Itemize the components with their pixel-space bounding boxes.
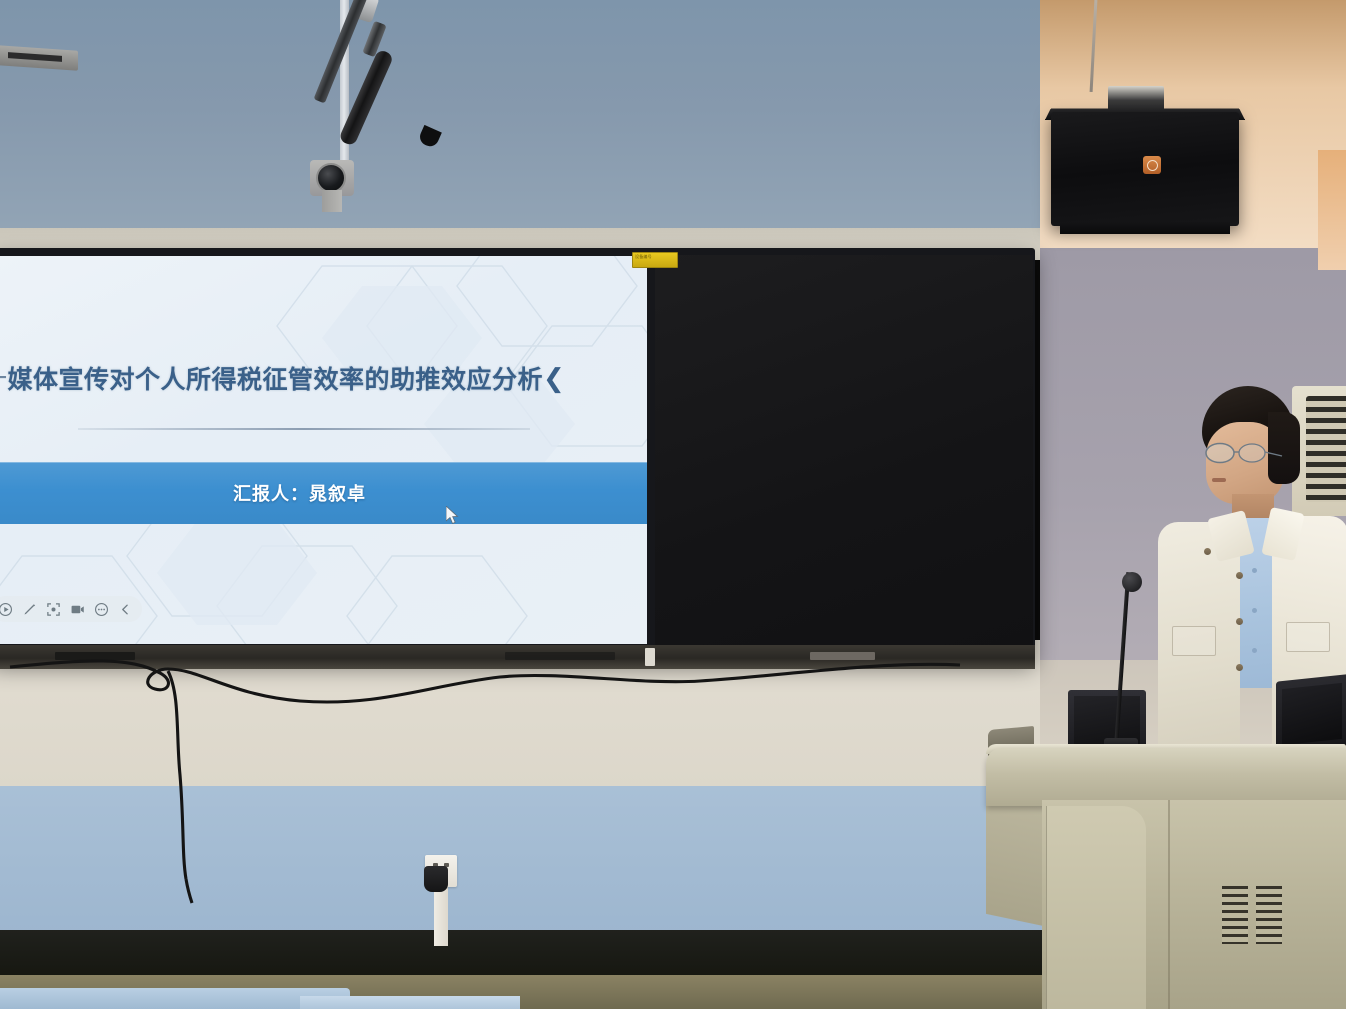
jacket-pocket-right [1286,622,1330,652]
camera-arm [322,190,342,212]
slide-divider-rule [78,428,530,430]
speaker-brand-logo [1143,156,1161,174]
podium-top [986,748,1346,806]
gooseneck-microphone-head [1122,572,1142,592]
more-icon[interactable] [94,602,109,617]
shirt-button [1252,568,1257,573]
lecture-hall-scene: ⌐ 媒体宣传对个人所得税征管效率的助推效应分析 ❮ 汇报人：晁叙卓 [0,0,1346,1009]
power-cable [0,655,1050,945]
ptz-camera [296,160,374,240]
slide-title-row: ⌐ 媒体宣传对个人所得税征管效率的助推效应分析 ❮ [0,360,647,396]
shirt-button [1252,608,1257,613]
slide-presenter-band: 汇报人：晁叙卓 [0,462,647,524]
cable-conduit [434,884,448,946]
podium-panel-seam [1168,800,1170,1009]
foreground-desk-panel [300,996,520,1009]
power-plug[interactable] [424,866,448,892]
pen-icon[interactable] [22,602,37,617]
glasses-icon [1200,442,1286,464]
slide-presenter-name: 汇报人：晁叙卓 [233,480,366,506]
collapse-left-icon[interactable] [118,602,133,617]
focus-frame-icon[interactable] [46,602,61,617]
equipment-asset-label: 设备编号 [632,252,678,268]
monitor-right-screen[interactable] [1282,683,1342,745]
ventilation-grille [1256,886,1282,944]
jacket-button [1236,618,1243,625]
play-icon[interactable] [0,602,13,617]
speaker-logo-ring [1147,160,1158,171]
slide-title-bracket-right-icon: ❮ [543,363,565,394]
jacket-pocket-left [1172,626,1216,656]
podium-door[interactable] [1046,806,1146,1009]
shirt-button [1252,648,1257,653]
ventilation-grille [1222,886,1248,944]
jacket-button [1204,548,1211,555]
jacket-button [1236,572,1243,579]
foreground-desk [0,988,350,1009]
display-black-area[interactable] [655,255,1033,647]
slide-title-bracket-left-icon: ⌐ [0,361,8,395]
slide-toolbar[interactable] [0,596,142,622]
presenter-mouth [1212,478,1226,482]
camera-lens [316,163,346,193]
presenter-view-icon[interactable] [70,602,85,617]
wall-corner-edge [1318,150,1346,270]
presentation-slide[interactable]: ⌐ 媒体宣传对个人所得税征管效率的助推效应分析 ❮ 汇报人：晁叙卓 [0,256,647,644]
slide-hexagon-pattern [0,256,647,644]
slide-title: 媒体宣传对个人所得税征管效率的助推效应分析 [8,360,544,396]
speaker-bottom-bevel [1060,222,1230,234]
jacket-button [1236,664,1243,671]
